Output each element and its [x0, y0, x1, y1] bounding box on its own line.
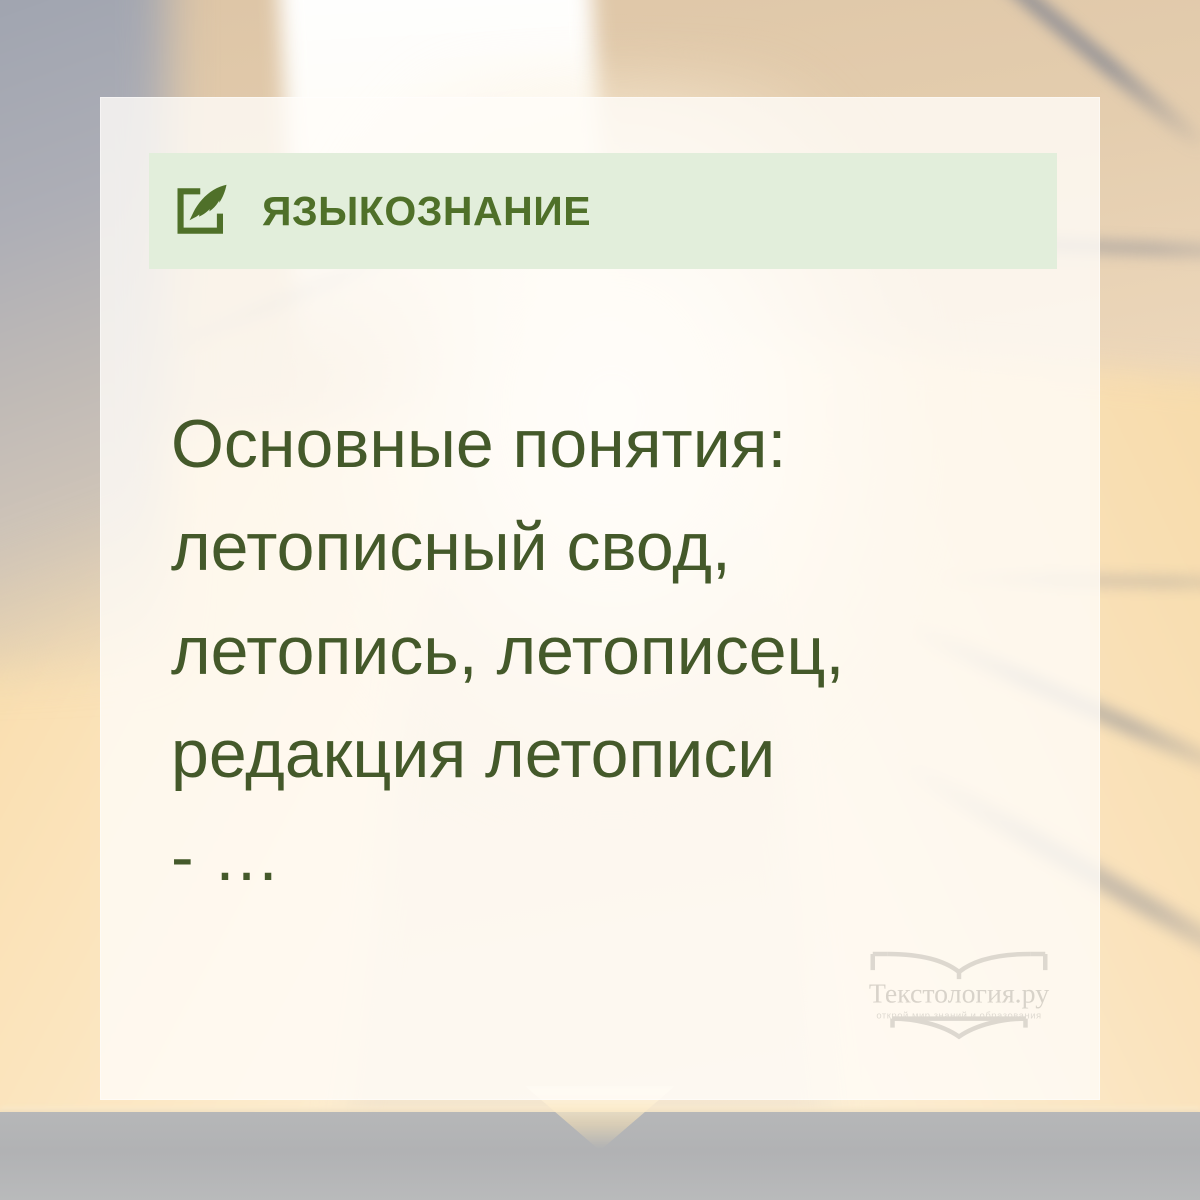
background-desk-band [0, 1112, 1200, 1200]
watermark-tagline: открой мир знаний и образования [876, 1010, 1041, 1021]
content-card: ЯЗЫКОЗНАНИЕ Основные понятия: летописный… [100, 97, 1100, 1100]
category-title: ЯЗЫКОЗНАНИЕ [262, 191, 591, 232]
category-header: ЯЗЫКОЗНАНИЕ [149, 153, 1057, 269]
watermark-title: Текстология.ру [869, 978, 1049, 1009]
page-title: Основные понятия: летописный свод, летоп… [171, 393, 1051, 910]
quill-in-square-icon [174, 183, 230, 239]
site-watermark: Текстология.ру открой мир знаний и образ… [851, 936, 1067, 1051]
